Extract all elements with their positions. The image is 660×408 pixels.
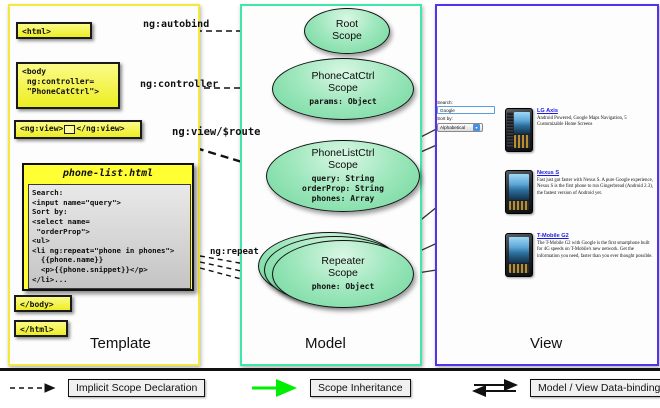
green-arrow-icon (250, 380, 304, 396)
legend-label: Model / View Data-binding (530, 379, 660, 397)
connector-label-autobind: ng:autobind (143, 19, 209, 30)
legend-item-scope-inheritance: Scope Inheritance (250, 379, 411, 397)
callout-code-block: Search: <input name="query"> Sort by: <s… (28, 184, 191, 289)
phone-title-link[interactable]: LG Axis (537, 108, 653, 114)
column-label-template: Template (90, 335, 151, 352)
phone-thumbnail-icon (505, 233, 533, 277)
double-arrow-icon (470, 380, 524, 396)
ngview-open-tag: <ng:view> (20, 124, 63, 134)
legend: Implicit Scope Declaration Scope Inherit… (0, 368, 660, 408)
scope-phonecatctrl: PhoneCatCtrl Scope params: Object (272, 58, 414, 120)
sort-select-value: Alphabetical (440, 123, 465, 132)
list-item[interactable]: T-Mobile G2 The T-Mobile G2 with Google … (505, 233, 653, 277)
diagram-canvas: Template Model View <html> <body ng:cont… (0, 0, 660, 405)
code-box-html-open: <html> (16, 22, 92, 39)
list-item[interactable]: LG Axis Android Powered, Google Maps Nav… (505, 108, 653, 152)
sort-select[interactable]: Alphabetical ▾ (437, 123, 483, 132)
legend-label: Implicit Scope Declaration (68, 379, 205, 397)
template-callout-phone-list: phone-list.html Search: <input name="que… (22, 163, 194, 291)
phone-thumbnail-icon (505, 108, 533, 152)
ngview-placeholder-icon (64, 125, 75, 134)
scope-root-name: Root Scope (332, 19, 362, 43)
view-search-controls: Search: Google Sort by: Alphabetical ▾ (437, 100, 499, 132)
phone-title-link[interactable]: T-Mobile G2 (537, 233, 653, 239)
list-item[interactable]: Nexus S Fast just got faster with Nexus … (505, 170, 653, 214)
scope-repeater-name: Repeater Scope (321, 256, 364, 280)
legend-item-implicit-scope: Implicit Scope Declaration (8, 379, 205, 397)
phone-thumbnail-icon (505, 170, 533, 214)
sort-label: Sort by: (437, 116, 499, 121)
scope-phonecatctrl-name: PhoneCatCtrl Scope (311, 71, 374, 95)
connector-label-ngview-route: ng:view/$route (172, 126, 261, 138)
legend-label: Scope Inheritance (310, 379, 411, 397)
ngview-close-tag: </ng:view> (76, 124, 124, 134)
phone-title-link[interactable]: Nexus S (537, 170, 653, 176)
code-box-body-open: <body ng:controller= "PhoneCatCtrl"> (16, 62, 120, 109)
phone-description: Android Powered, Google Maps Navigation,… (537, 116, 653, 129)
scope-repeater-props: phone: Object (312, 282, 375, 292)
phone-description: Fast just got faster with Nexus S. A pur… (537, 178, 653, 197)
connector-label-ngrepeat: ng:repeat (210, 247, 259, 257)
dashed-arrow-icon (8, 380, 62, 396)
scope-phonelistctrl: PhoneListCtrl Scope query: String orderP… (266, 140, 420, 212)
chevron-down-icon: ▾ (473, 124, 480, 131)
code-box-html-close: </html> (14, 320, 68, 337)
legend-item-data-binding: Model / View Data-binding (470, 379, 660, 397)
callout-title: phone-list.html (24, 165, 192, 181)
scope-phonecatctrl-props: params: Object (309, 97, 376, 107)
scope-phonelistctrl-name: PhoneListCtrl Scope (311, 148, 374, 172)
code-box-ngview: <ng:view> </ng:view> (14, 120, 142, 139)
search-input[interactable]: Google (437, 106, 495, 114)
phone-description: The T-Mobile G2 with Google is the first… (537, 241, 653, 260)
column-label-model: Model (305, 335, 346, 352)
connector-label-controller: ng:controller (140, 79, 218, 90)
column-label-view: View (530, 335, 562, 352)
scope-root: Root Scope (304, 8, 390, 54)
scope-repeater: Repeater Scope phone: Object (272, 240, 414, 308)
code-box-body-close: </body> (14, 295, 72, 312)
scope-phonelistctrl-props: query: String orderProp: String phones: … (302, 174, 384, 204)
search-label: Search: (437, 100, 499, 105)
